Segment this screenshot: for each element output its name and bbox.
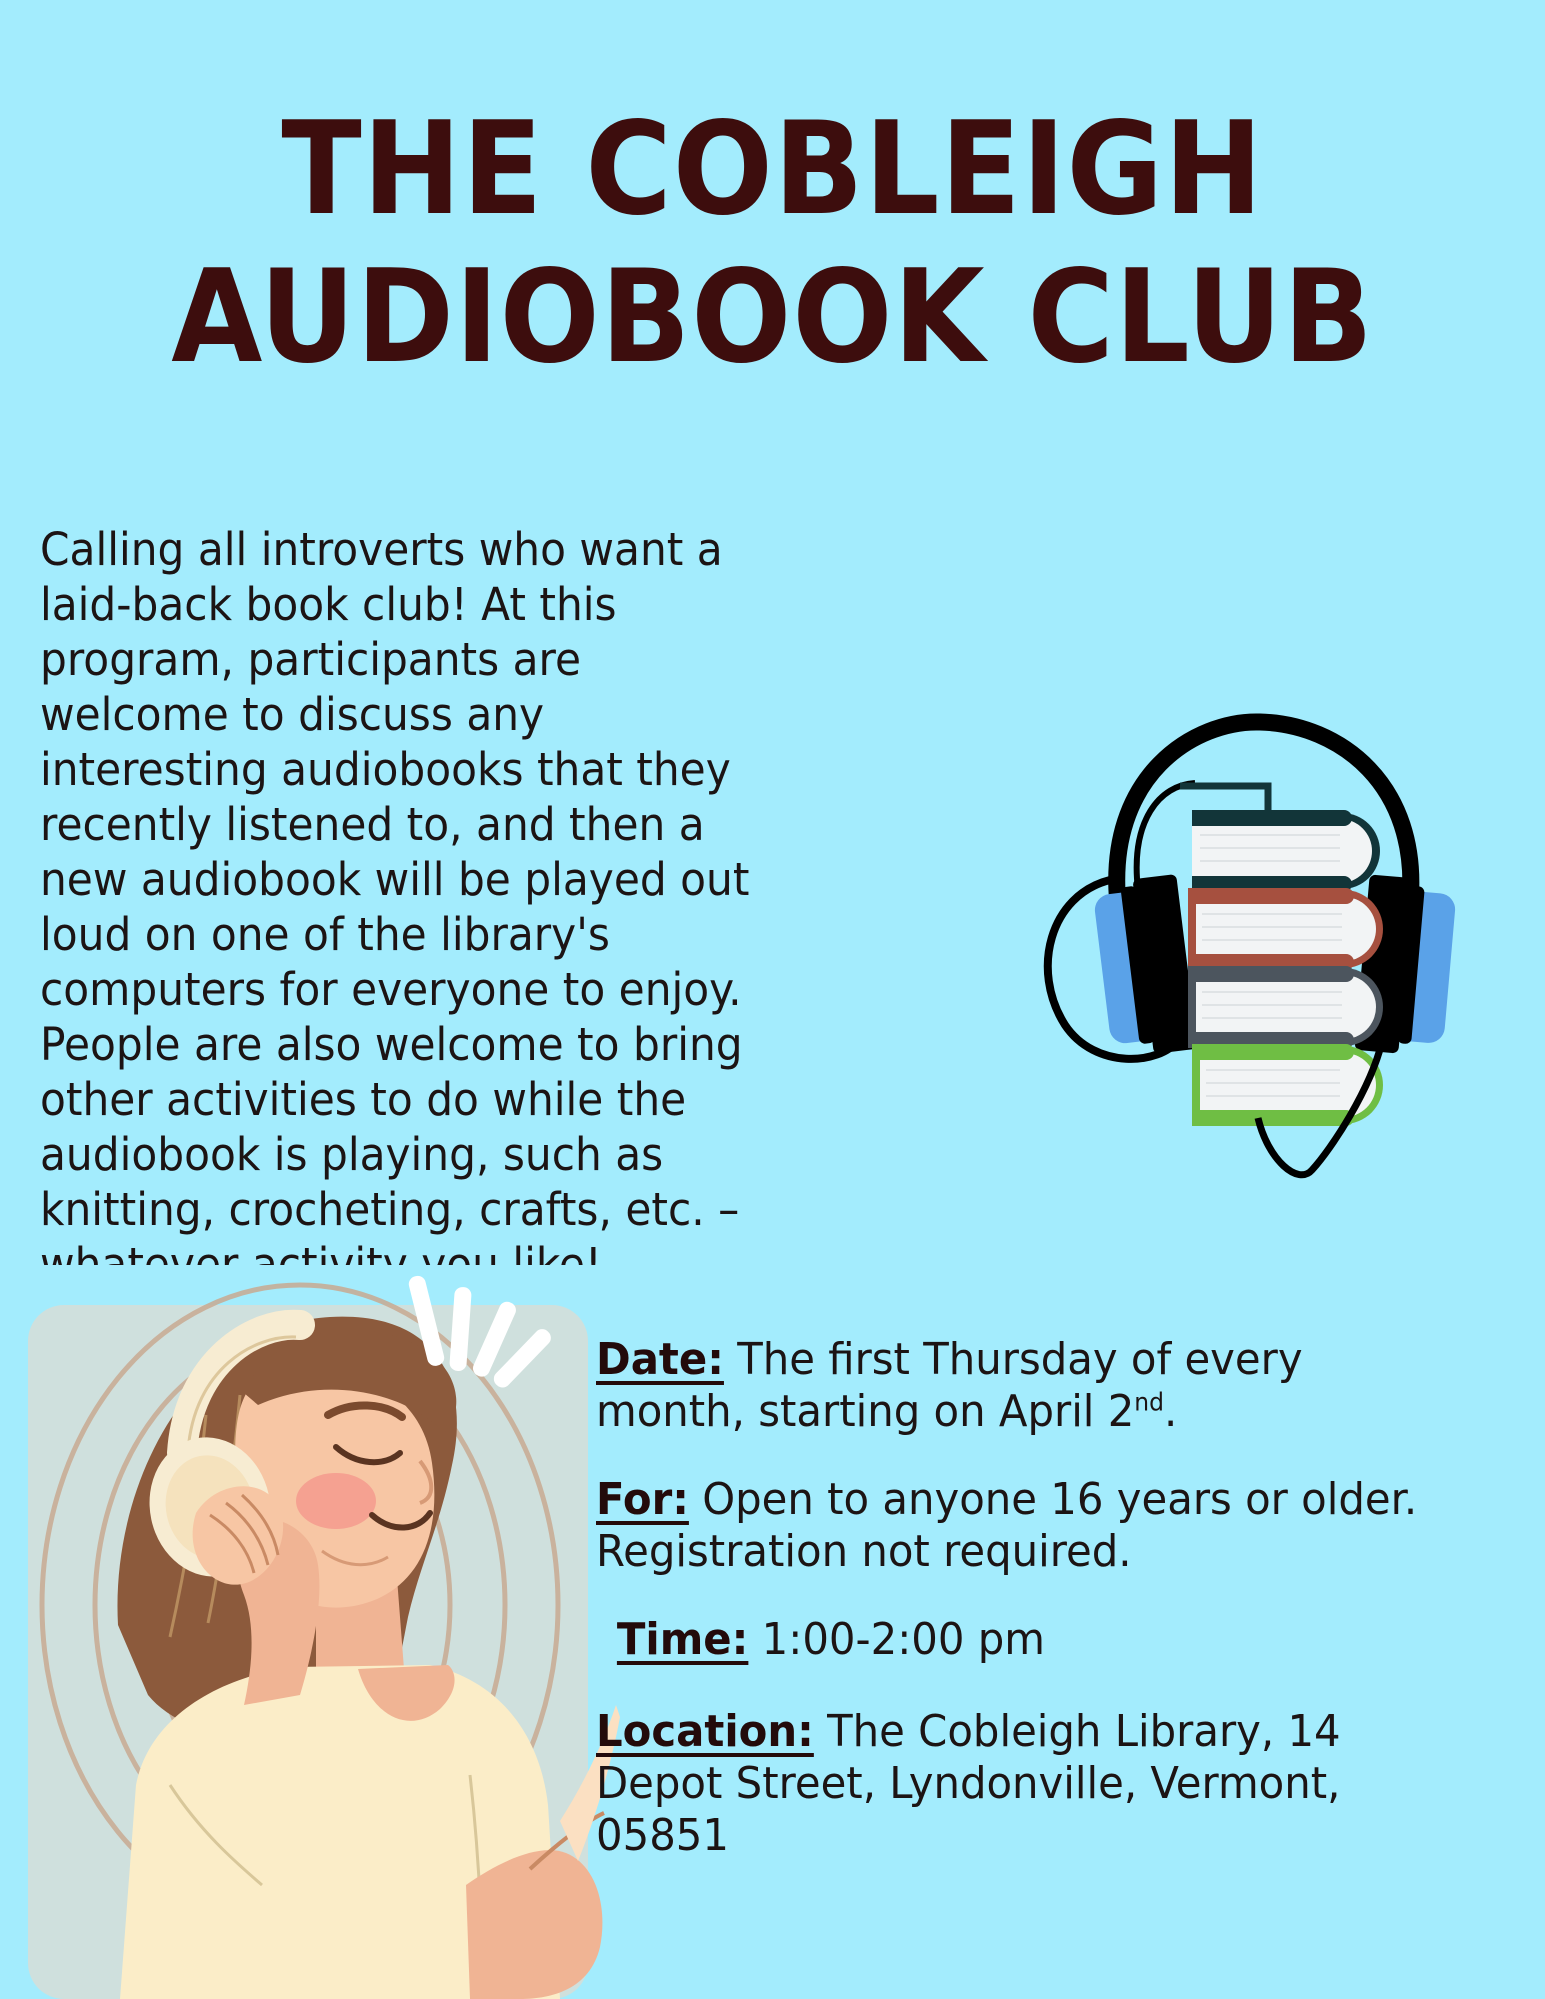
books-headphones-illustration [1010,690,1490,1190]
date-label: Date: [596,1334,724,1385]
page-title: THE COBLEIGH AUDIOBOOK CLUB [62,96,1483,393]
detail-location: Location: The Cobleigh Library, 14 Depot… [596,1706,1462,1862]
detail-date: Date: The first Thursday of every month,… [596,1334,1462,1438]
detail-time: Time: 1:00-2:00 pm [617,1614,1462,1666]
title-line-2: AUDIOBOOK CLUB [62,244,1483,392]
title-line-1: THE COBLEIGH [62,96,1483,244]
headband-inner-detail [1137,783,1195,890]
for-value: Open to anyone 16 years or older. Regist… [596,1474,1417,1577]
detail-for: For: Open to anyone 16 years or older. R… [596,1474,1462,1578]
book-teal [1192,810,1380,892]
location-label: Location: [596,1706,814,1757]
date-value-after: . [1164,1386,1177,1437]
for-label: For: [596,1474,689,1525]
date-ordinal-suffix: nd [1134,1387,1164,1416]
book-red [1188,888,1383,970]
time-label: Time: [617,1614,748,1665]
book-gray [1188,966,1383,1048]
arm-right [466,1850,602,1999]
woman-listening-illustration [0,1265,620,1999]
time-value: 1:00-2:00 pm [748,1614,1045,1665]
intro-paragraph: Calling all introverts who want a laid-b… [40,522,783,1292]
flyer-page: THE COBLEIGH AUDIOBOOK CLUB Calling all … [0,0,1545,1999]
details-block: Date: The first Thursday of every month,… [596,1334,1462,1898]
blush [296,1473,376,1529]
